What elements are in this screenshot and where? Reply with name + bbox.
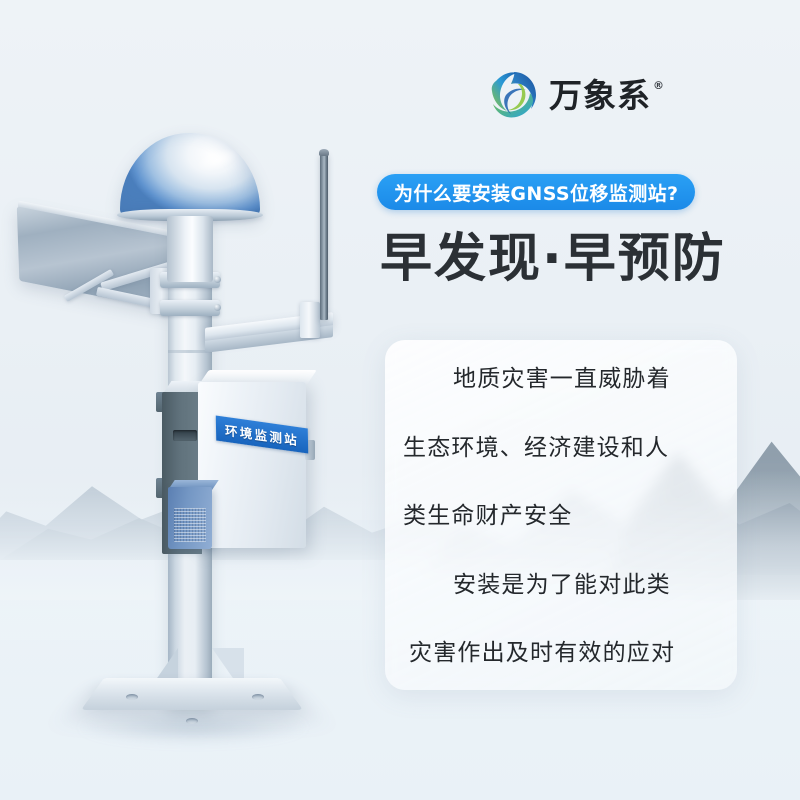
page-title: 早发现·早预防 [380,231,726,287]
flange-bolt-hole-left [126,694,138,700]
description-line-2: 生态环境、经济建设和人 [403,435,719,463]
pole-clamp-lower [160,300,220,316]
flange-bolt-hole-right [252,694,264,700]
globe-swirl-logo-icon [488,69,540,121]
whip-antenna [320,152,328,320]
instrument-enclosure [198,382,306,548]
question-badge: 为什么要安装GNSS位移监测站? [377,174,695,210]
brand-wordmark: 万象系 ® [549,79,665,112]
antenna-bracket [300,302,320,338]
registered-trademark-icon: ® [653,80,665,91]
brand-logo: 万象系 ® [488,66,658,124]
flange-bolt-hole-front [186,718,198,724]
whip-antenna-cap [319,149,329,156]
gnss-antenna-dome [120,133,260,217]
promo-banner: 环境监测站 [0,0,800,800]
enclosure-vent-slot [173,430,197,441]
description-line-3: 类生命财产安全 [403,503,719,531]
question-badge-text: 为什么要安装GNSS位移监测站? [394,179,678,206]
contact-shadow [78,710,308,744]
description-card: 地质灾害一直威胁着 生态环境、经济建设和人 类生命财产安全 安装是为了能对此类 … [385,340,737,690]
dome-neck-collar [167,216,213,282]
description-line-5: 灾害作出及时有效的应对 [403,640,719,668]
base-flange-plate [81,678,303,710]
description-line-4: 安装是为了能对此类 [403,572,719,600]
product-render: 环境监测站 [0,0,400,800]
brand-name-text: 万象系 [549,79,651,112]
clamp-bolt-lower [214,304,221,311]
radiation-shield-mesh [174,508,206,542]
description-card-body: 地质灾害一直威胁着 生态环境、经济建设和人 类生命财产安全 安装是为了能对此类 … [385,340,737,690]
clamp-bolt-upper [214,276,221,283]
description-line-1: 地质灾害一直威胁着 [403,366,719,394]
